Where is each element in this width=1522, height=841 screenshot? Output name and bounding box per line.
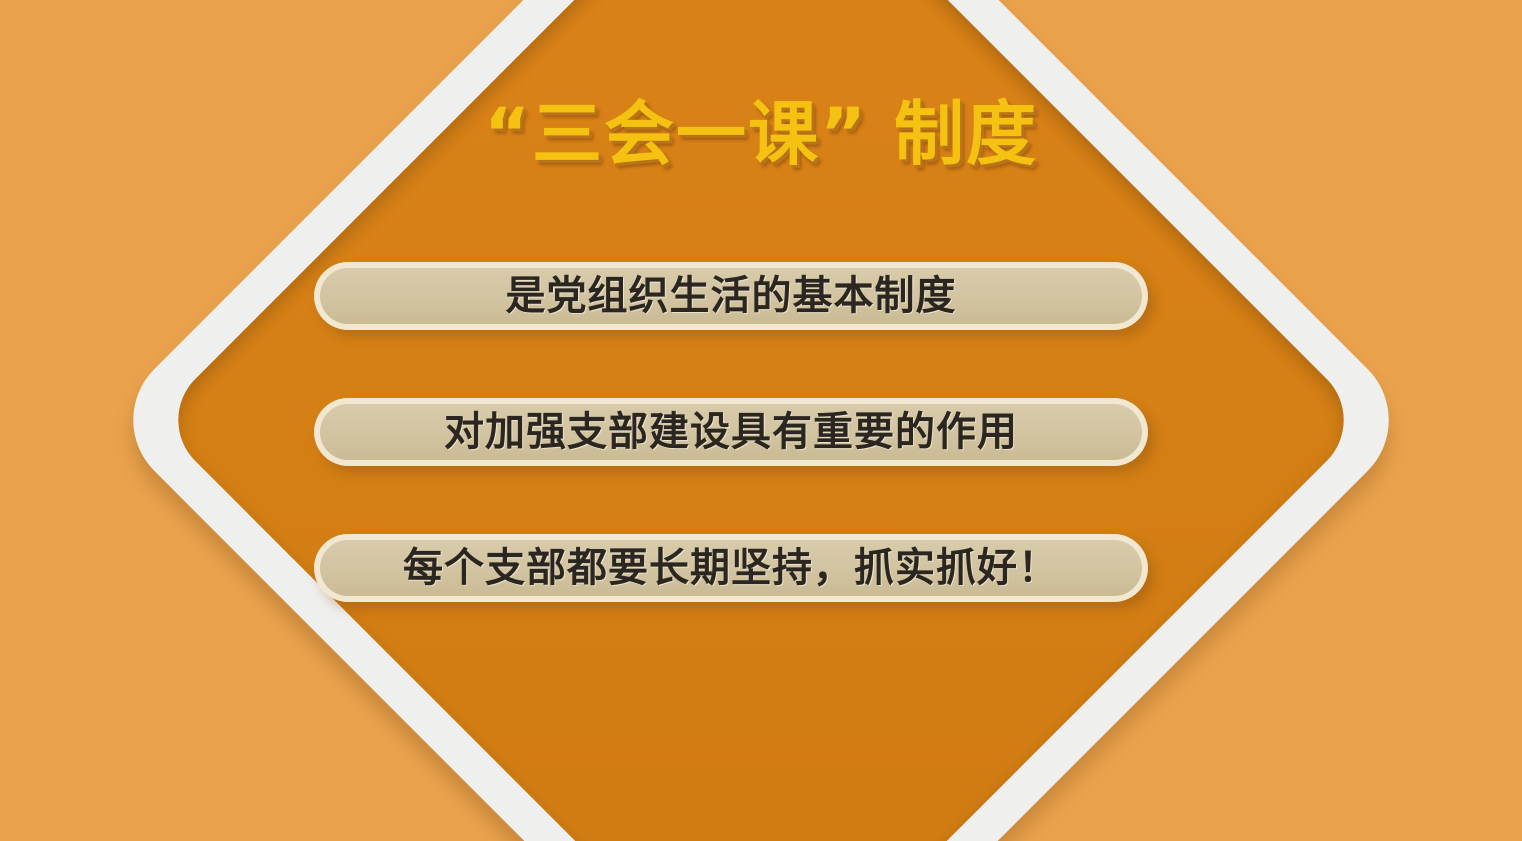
- point-1-body: 是党组织生活的基本制度: [320, 268, 1142, 324]
- slide-canvas: “三会一课”制度 是党组织生活的基本制度 对加强支部建设具有重要的作用 每个支部…: [0, 0, 1522, 841]
- point-1-label: 是党组织生活的基本制度: [506, 276, 957, 316]
- points-list: 是党组织生活的基本制度 对加强支部建设具有重要的作用 每个支部都要长期坚持，抓实…: [314, 262, 1148, 602]
- point-2-body: 对加强支部建设具有重要的作用: [320, 404, 1142, 460]
- title-quoted-text: “三会一课”: [484, 93, 868, 175]
- list-item[interactable]: 每个支部都要长期坚持，抓实抓好！: [314, 534, 1148, 602]
- title-suffix-text: 制度: [894, 93, 1038, 175]
- point-3-label: 每个支部都要长期坚持，抓实抓好！: [403, 548, 1059, 588]
- list-item[interactable]: 是党组织生活的基本制度: [314, 262, 1148, 330]
- point-2-label: 对加强支部建设具有重要的作用: [444, 412, 1018, 452]
- list-item[interactable]: 对加强支部建设具有重要的作用: [314, 398, 1148, 466]
- slide-content: “三会一课”制度 是党组织生活的基本制度 对加强支部建设具有重要的作用 每个支部…: [0, 0, 1522, 841]
- slide-title: “三会一课”制度: [0, 78, 1522, 179]
- point-3-body: 每个支部都要长期坚持，抓实抓好！: [320, 540, 1142, 596]
